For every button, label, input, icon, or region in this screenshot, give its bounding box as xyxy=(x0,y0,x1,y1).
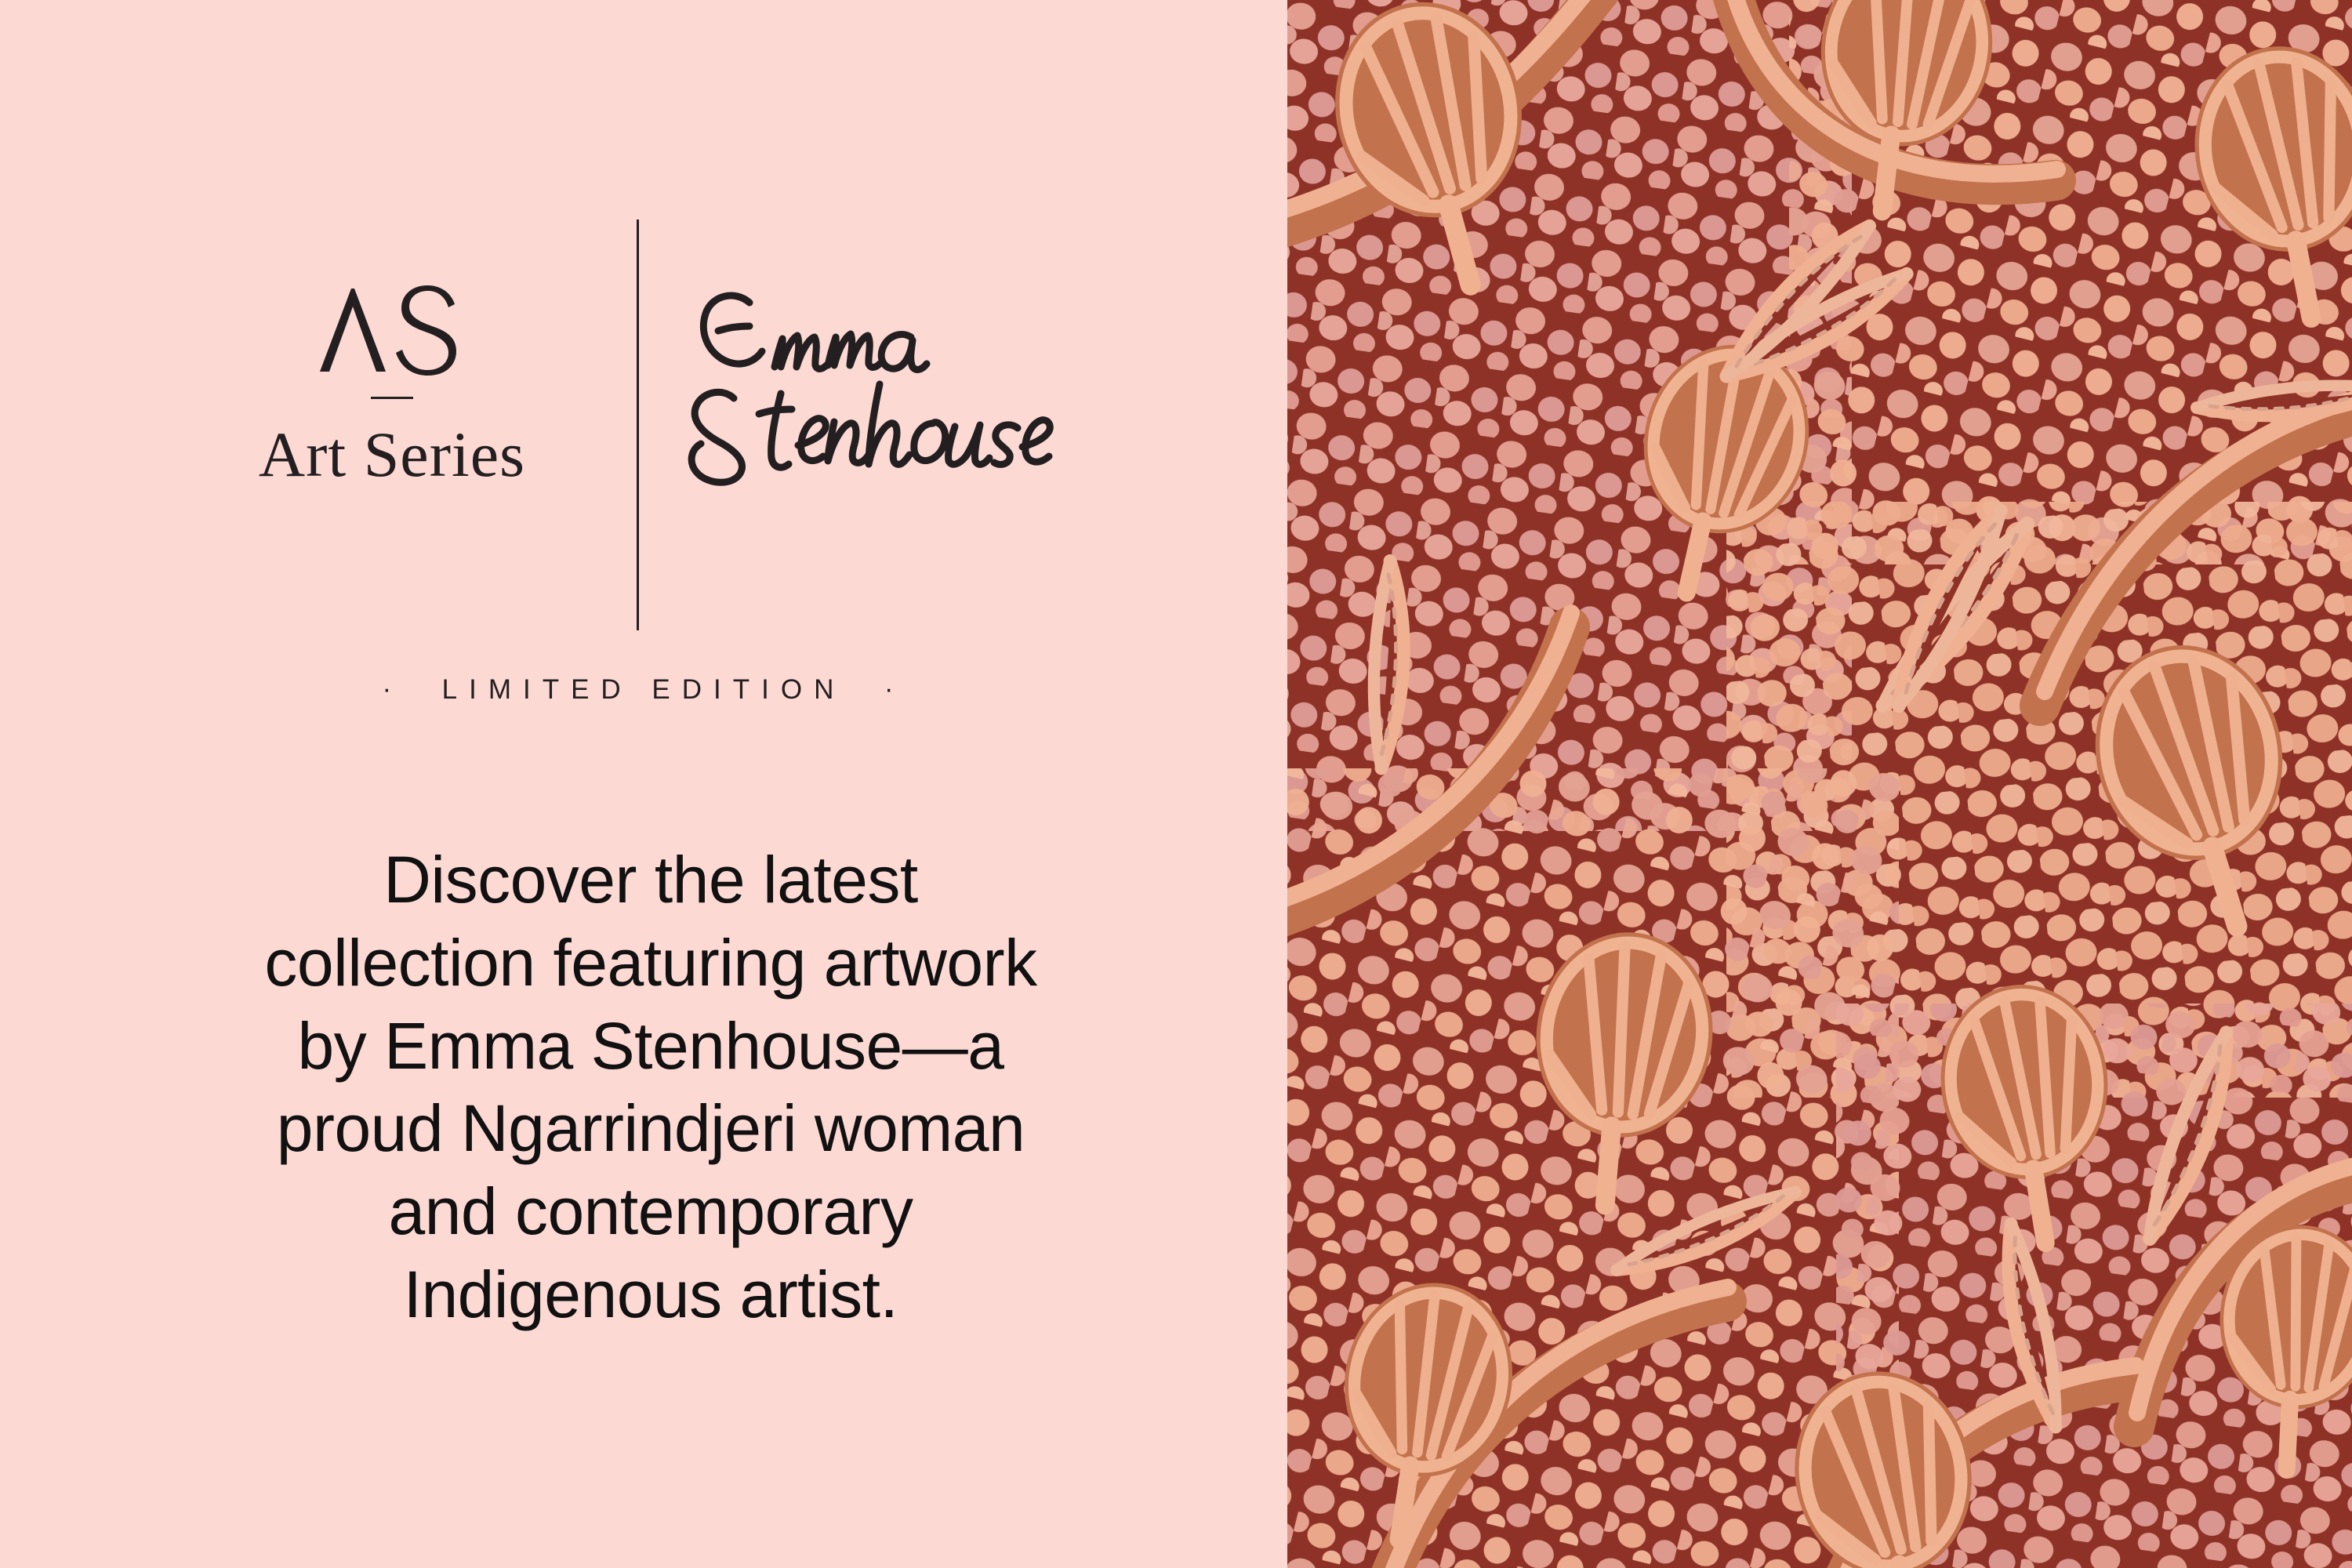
eyebrow-label: LIMITED EDITION xyxy=(442,674,846,705)
brand-lockup: Art Series xyxy=(0,213,1287,637)
vertical-divider-icon xyxy=(637,220,639,630)
logo-divider-rule xyxy=(371,397,413,399)
indigenous-botanical-pattern xyxy=(1287,0,2352,1568)
copy-line: proud Ngarrindjeri woman xyxy=(63,1087,1239,1171)
promo-banner: Art Series xyxy=(0,0,2352,1568)
left-content-panel: Art Series xyxy=(0,0,1287,1568)
handwritten-signature-icon[interactable] xyxy=(674,268,1082,503)
eyebrow-left-dot-icon: · xyxy=(383,673,404,705)
copy-line: collection featuring artwork xyxy=(63,922,1239,1005)
copy-line: and contemporary xyxy=(63,1171,1239,1254)
art-series-logo[interactable]: Art Series xyxy=(196,284,588,487)
art-series-wordmark: Art Series xyxy=(196,423,588,487)
limited-edition-eyebrow: · LIMITED EDITION · xyxy=(0,674,1287,707)
copy-line: Indigenous artist. xyxy=(63,1254,1239,1337)
artwork-image xyxy=(1287,0,2352,1568)
copy-line: by Emma Stenhouse—a xyxy=(63,1005,1239,1088)
as-monogram-icon xyxy=(314,284,470,376)
promo-description: Discover the latest collection featuring… xyxy=(63,839,1239,1337)
copy-line: Discover the latest xyxy=(63,839,1239,922)
eyebrow-right-dot-icon: · xyxy=(884,673,906,705)
